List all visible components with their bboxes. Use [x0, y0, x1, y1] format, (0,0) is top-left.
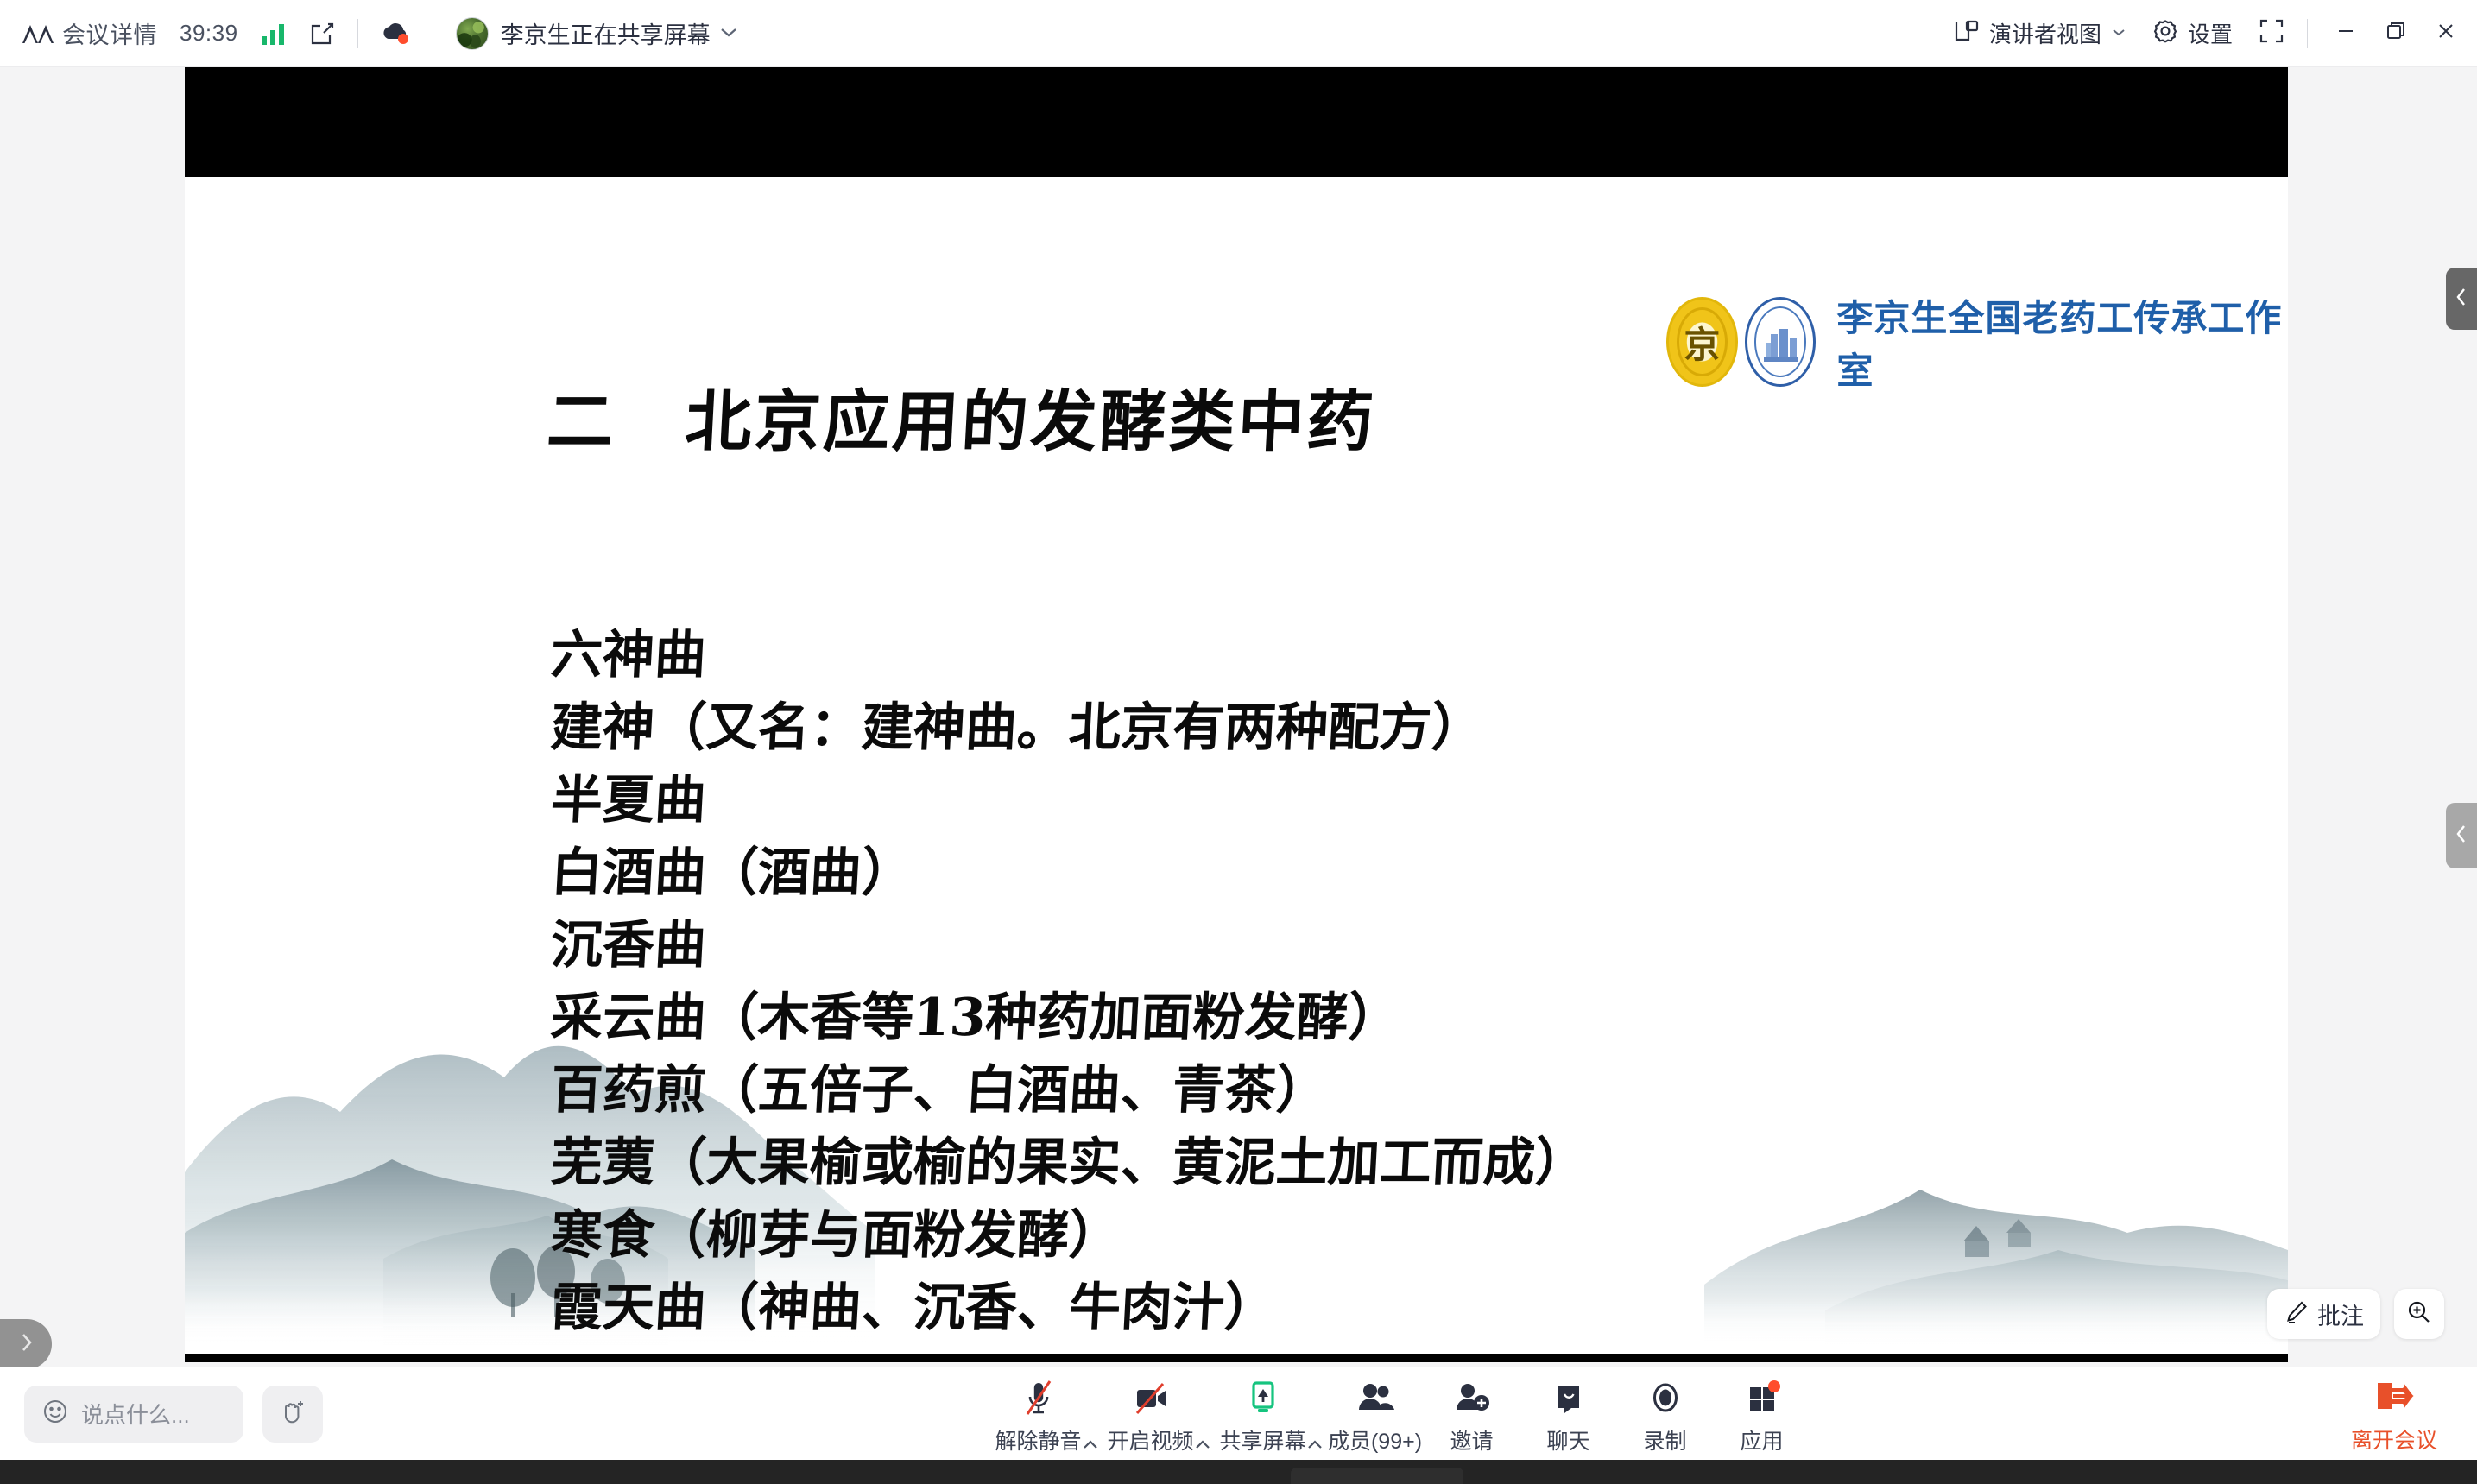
close-button[interactable]: [2434, 19, 2458, 47]
participants-button[interactable]: 成员(99+): [1327, 1373, 1424, 1456]
quick-chat-input[interactable]: 说点什么...: [24, 1386, 243, 1443]
zoom-in-icon: [2405, 1298, 2433, 1330]
mic-muted-icon: [1020, 1378, 1057, 1419]
popout-window-icon[interactable]: [309, 21, 335, 47]
fullscreen-button[interactable]: [2259, 18, 2284, 48]
mic-options-caret-icon[interactable]: [1082, 1437, 1099, 1456]
top-toolbar-left: 会议详情 39:39: [0, 15, 738, 53]
cloud-recording-icon[interactable]: [381, 22, 410, 46]
record-label: 录制: [1643, 1424, 1686, 1456]
divider: [2307, 19, 2308, 48]
share-screen-button[interactable]: 共享屏幕: [1215, 1373, 1311, 1456]
leave-meeting-icon: [2373, 1378, 2415, 1418]
shared-screen-stage: 京 李京生全国老药工传承工作室 二 北京应用的发酵类中药: [0, 67, 2477, 1367]
slide-body-lines: 六神曲 建神（又名：建神曲。北京有两种配方） 半夏曲 白酒曲（酒曲） 沉香曲 采…: [551, 619, 2191, 1344]
unmute-label: 解除静音: [995, 1424, 1081, 1456]
chat-bubble-icon: [1551, 1378, 1587, 1419]
record-button[interactable]: 录制: [1617, 1373, 1714, 1456]
shared-slide[interactable]: 京 李京生全国老药工传承工作室 二 北京应用的发酵类中药: [185, 67, 2288, 1362]
divider: [433, 19, 433, 48]
meeting-detail-label[interactable]: 会议详情: [62, 16, 157, 50]
os-taskbar: [0, 1460, 2477, 1484]
top-toolbar: 会议详情 39:39: [0, 0, 2477, 67]
bottom-toolbar: 说点什么... 解除静音: [0, 1367, 2477, 1460]
camera-off-icon: [1131, 1378, 1171, 1419]
invite-person-icon: [1453, 1378, 1491, 1419]
slide-line: 白酒曲（酒曲）: [549, 837, 2193, 909]
slide-title: 二 北京应用的发酵类中药: [545, 369, 1379, 464]
zoom-in-button[interactable]: [2394, 1289, 2444, 1339]
apps-grid-icon: [1745, 1378, 1779, 1419]
participants-label: 成员(99+): [1328, 1424, 1422, 1456]
share-screen-icon: [1246, 1378, 1280, 1419]
settings-label: 设置: [2188, 17, 2233, 49]
sharer-avatar: [456, 17, 489, 50]
smiley-icon[interactable]: [41, 1398, 69, 1430]
signal-bars-icon[interactable]: [261, 22, 287, 46]
collapse-right-panel-handle-top[interactable]: [2446, 268, 2477, 330]
slide-logo-text: 李京生全国老药工传承工作室: [1836, 289, 2288, 395]
meeting-controls: 解除静音 开启视频: [990, 1373, 1810, 1456]
expand-left-panel-handle[interactable]: [0, 1319, 52, 1369]
record-circle-icon: [1646, 1378, 1684, 1419]
fullscreen-icon: [2259, 18, 2284, 48]
share-options-caret-icon[interactable]: [1306, 1437, 1324, 1456]
annotate-button[interactable]: 批注: [2267, 1289, 2380, 1339]
collapse-right-panel-handle-mid[interactable]: [2446, 803, 2477, 868]
raise-hand-button[interactable]: [262, 1386, 323, 1443]
slide-line: 寒食（柳芽与面粉发酵）: [549, 1199, 2193, 1272]
unmute-button[interactable]: 解除静音: [990, 1373, 1087, 1456]
chevron-down-icon: [2111, 26, 2126, 41]
slide-line: 六神曲: [549, 619, 2193, 691]
slide-letterbox-bottom: [185, 1354, 2288, 1362]
chevron-left-icon: [2454, 823, 2469, 849]
quick-chat-placeholder: 说点什么...: [81, 1398, 190, 1430]
slide-letterbox-top: [185, 67, 2288, 177]
chevron-right-icon: [17, 1330, 35, 1359]
leave-meeting-button[interactable]: 离开会议: [2351, 1378, 2437, 1455]
share-screen-label: 共享屏幕: [1219, 1424, 1305, 1456]
raise-hand-icon: [278, 1397, 307, 1430]
slide-line: 芜荑（大果榆或榆的果实、黄泥土加工而成）: [549, 1127, 2193, 1199]
minimize-button[interactable]: [2334, 19, 2358, 47]
beijing-city-university-seal-icon: [1745, 297, 1817, 387]
meeting-timer: 39:39: [180, 20, 238, 47]
participants-icon: [1355, 1378, 1396, 1419]
annotate-label: 批注: [2317, 1298, 2364, 1331]
seal-glyph: 京: [1684, 316, 1720, 369]
invite-label: 邀请: [1450, 1424, 1493, 1456]
slide-line: 霞天曲（神曲、沉香、牛肉汁）: [549, 1272, 2193, 1344]
speaker-view-label: 演讲者视图: [1989, 17, 2101, 49]
slide-tools: 批注: [2267, 1289, 2444, 1339]
sharer-status-label: 李京生正在共享屏幕: [501, 16, 711, 50]
maximize-button[interactable]: [2384, 19, 2408, 47]
invite-button[interactable]: 邀请: [1424, 1373, 1520, 1456]
start-video-label: 开启视频: [1107, 1424, 1193, 1456]
meeting-window: 会议详情 39:39: [0, 0, 2477, 1484]
beijing-seal-logo-icon: 京: [1666, 297, 1738, 387]
slide-content: 京 李京生全国老药工传承工作室 二 北京应用的发酵类中药: [185, 177, 2288, 1354]
chevron-left-icon: [2454, 286, 2469, 313]
slide-line: 半夏曲: [549, 764, 2193, 837]
camera-options-caret-icon[interactable]: [1194, 1437, 1211, 1456]
speaker-view-icon: [1954, 19, 1980, 47]
close-icon: [2434, 19, 2458, 47]
chevron-down-icon[interactable]: [719, 23, 738, 43]
slide-line: 采云曲（木香等13种药加面粉发酵）: [549, 982, 2193, 1054]
start-video-button[interactable]: 开启视频: [1103, 1373, 1199, 1456]
divider: [357, 19, 358, 48]
pencil-icon: [2284, 1299, 2310, 1329]
speaker-view-button[interactable]: 演讲者视图: [1954, 17, 2126, 49]
slide-header-logos: 京 李京生全国老药工传承工作室: [1666, 289, 2288, 395]
gear-icon: [2152, 18, 2178, 48]
top-toolbar-right: 演讲者视图 设置: [1928, 17, 2477, 49]
minimize-icon: [2334, 19, 2358, 47]
leave-meeting-label: 离开会议: [2351, 1424, 2437, 1455]
apps-label: 应用: [1740, 1424, 1783, 1456]
maximize-restore-icon: [2384, 19, 2408, 47]
slide-line: 百药煎（五倍子、白酒曲、青茶）: [549, 1054, 2193, 1127]
slide-line: 建神（又名：建神曲。北京有两种配方）: [549, 691, 2193, 764]
slide-line: 沉香曲: [549, 909, 2193, 982]
settings-button[interactable]: 设置: [2152, 17, 2233, 49]
chat-label: 聊天: [1546, 1424, 1589, 1456]
app-logo-icon: [19, 15, 57, 53]
apps-button[interactable]: 应用: [1714, 1373, 1810, 1456]
chat-button[interactable]: 聊天: [1520, 1373, 1617, 1456]
